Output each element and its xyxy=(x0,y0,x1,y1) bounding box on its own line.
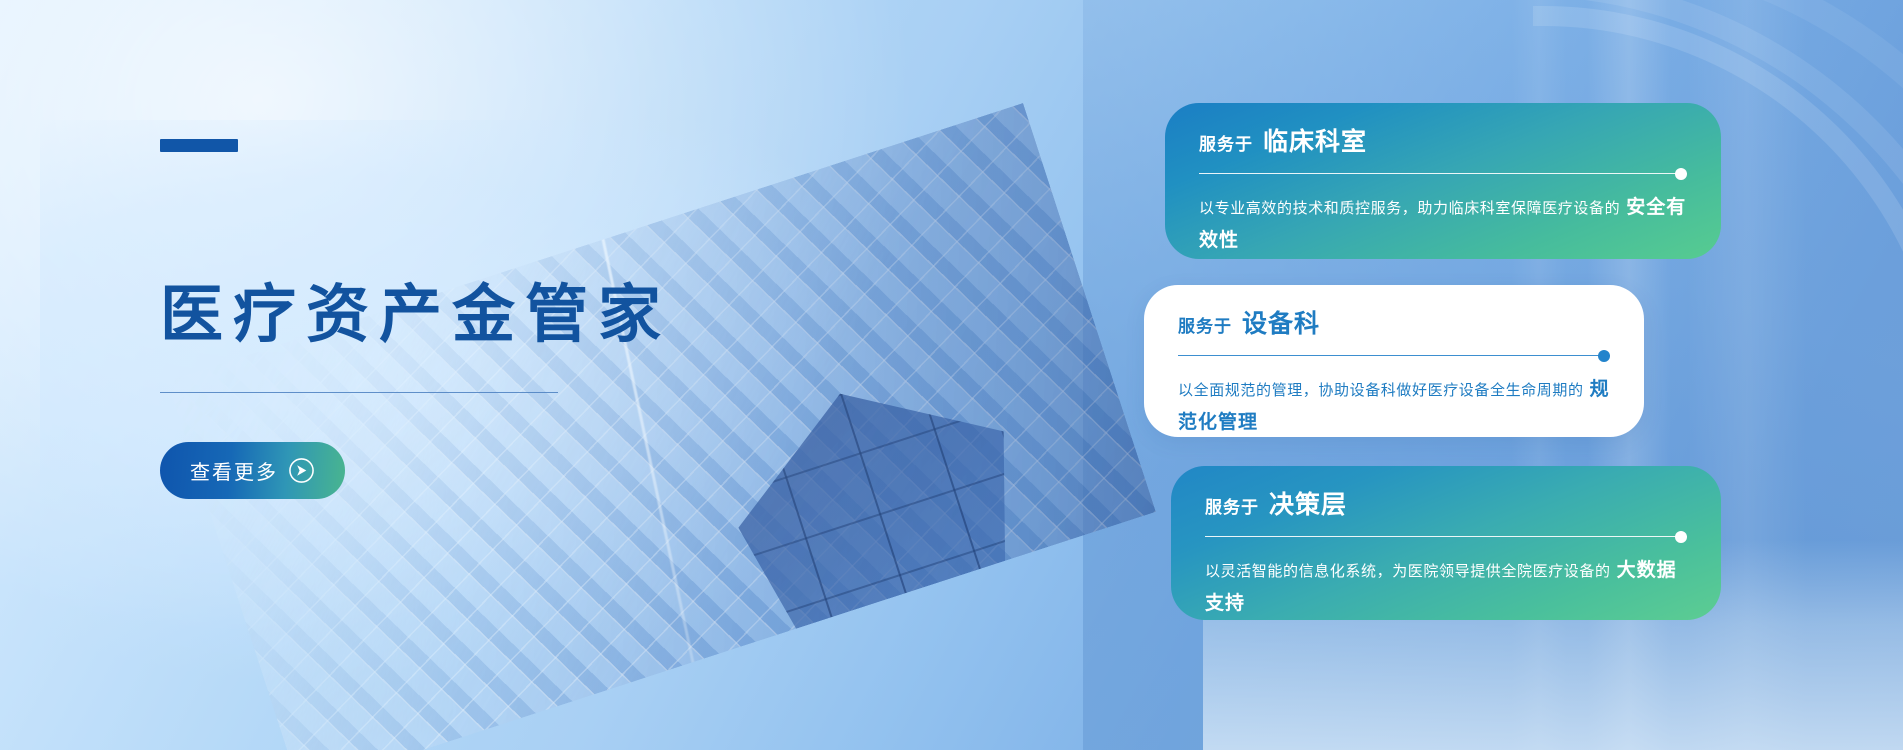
card-body-text: 以全面规范的管理，协助设备科做好医疗设备全生命周期的 xyxy=(1178,381,1584,399)
card-body: 以全面规范的管理，协助设备科做好医疗设备全生命周期的规范化管理 xyxy=(1178,373,1610,438)
card-rule-line xyxy=(1205,536,1677,537)
title-divider xyxy=(160,392,558,393)
card-prefix: 服务于 xyxy=(1205,500,1259,517)
card-rule-dot xyxy=(1675,531,1687,543)
circle-arrow-right-icon xyxy=(288,457,315,484)
card-rule xyxy=(1199,167,1687,179)
service-card-list: 服务于 临床科室 以专业高效的技术和质控服务，助力临床科室保障医疗设备的安全有效… xyxy=(983,0,1903,750)
card-body: 以专业高效的技术和质控服务，助力临床科室保障医疗设备的安全有效性 xyxy=(1199,191,1687,256)
service-card-decision[interactable]: 服务于 决策层 以灵活智能的信息化系统，为医院领导提供全院医疗设备的大数据支持 xyxy=(1171,466,1721,620)
card-body-text: 以灵活智能的信息化系统，为医院领导提供全院医疗设备的 xyxy=(1205,562,1611,580)
service-card-clinical[interactable]: 服务于 临床科室 以专业高效的技术和质控服务，助力临床科室保障医疗设备的安全有效… xyxy=(1165,103,1721,259)
card-rule xyxy=(1178,349,1610,361)
card-rule xyxy=(1205,530,1687,542)
view-more-label: 查看更多 xyxy=(190,456,278,485)
card-prefix: 服务于 xyxy=(1178,319,1232,336)
view-more-button[interactable]: 查看更多 xyxy=(160,442,345,499)
service-card-equipment[interactable]: 服务于 设备科 以全面规范的管理，协助设备科做好医疗设备全生命周期的规范化管理 xyxy=(1144,285,1644,437)
card-prefix: 服务于 xyxy=(1199,137,1253,154)
card-rule-dot xyxy=(1598,350,1610,362)
card-header: 服务于 设备科 xyxy=(1178,311,1610,336)
card-target: 设备科 xyxy=(1242,311,1320,336)
title-accent-bar xyxy=(160,139,238,152)
card-rule-dot xyxy=(1675,168,1687,180)
card-target: 临床科室 xyxy=(1263,129,1367,154)
card-rule-line xyxy=(1178,355,1600,356)
page-title: 医疗资产金管家 xyxy=(160,280,671,351)
card-body: 以灵活智能的信息化系统，为医院领导提供全院医疗设备的大数据支持 xyxy=(1205,554,1687,619)
hero-left-pane: 医疗资产金管家 查看更多 xyxy=(160,0,860,750)
card-header: 服务于 临床科室 xyxy=(1199,129,1687,154)
card-body-text: 以专业高效的技术和质控服务，助力临床科室保障医疗设备的 xyxy=(1199,199,1620,217)
hero-banner: 医疗资产金管家 查看更多 服务于 临床科室 以专业高效的技术和质控服务，助力临床… xyxy=(0,0,1903,750)
card-rule-line xyxy=(1199,173,1677,174)
card-target: 决策层 xyxy=(1269,492,1347,517)
card-header: 服务于 决策层 xyxy=(1205,492,1687,517)
